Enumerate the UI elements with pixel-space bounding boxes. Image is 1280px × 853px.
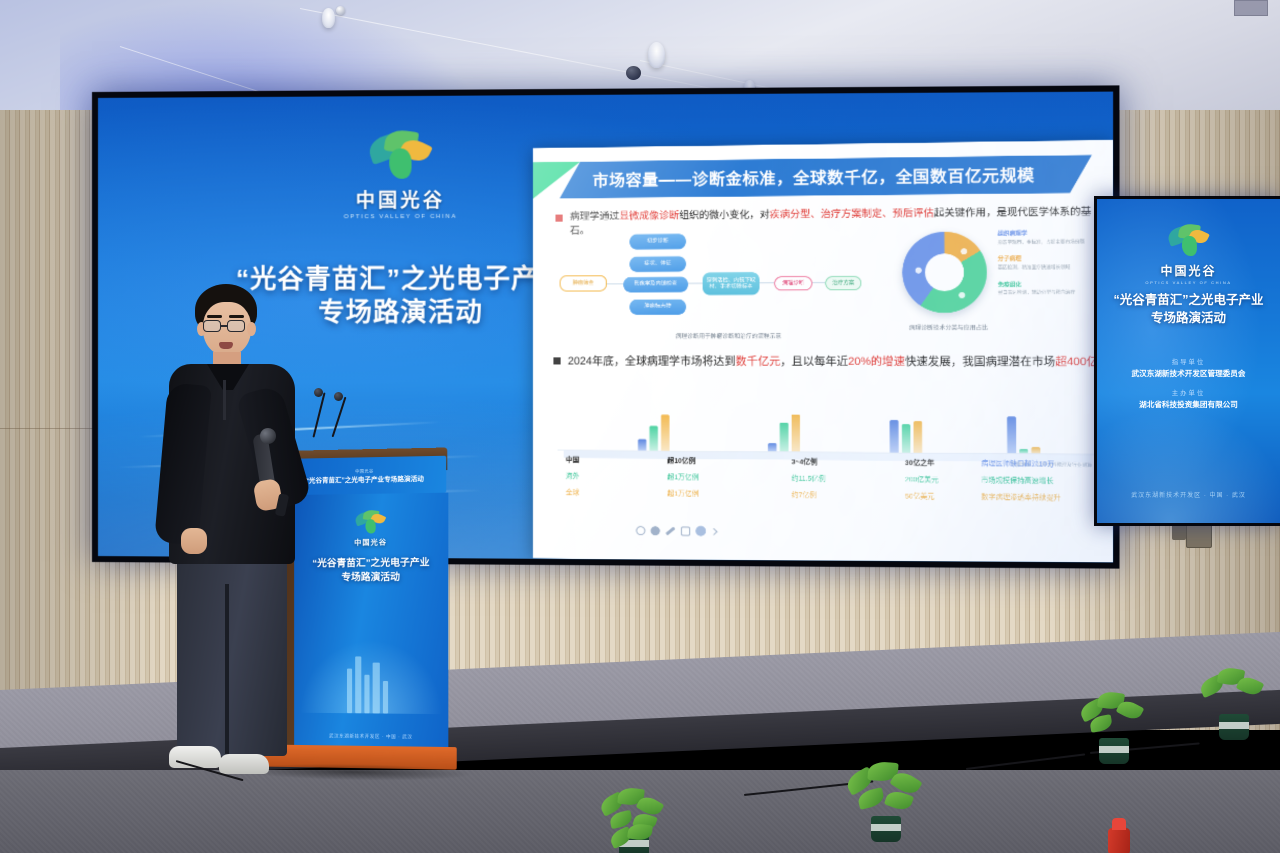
logo-text-en: OPTICS VALLEY OF CHINA xyxy=(233,214,568,221)
bullet-2-text: 2024年底，全球病理学市场将达到数千亿元，且以每年近20%的增速快速发展，我国… xyxy=(568,354,1115,370)
circle-filled-icon[interactable] xyxy=(651,526,660,535)
right-logo-text-en: OPTICS VALLEY OF CHINA xyxy=(1145,280,1231,285)
mouth xyxy=(219,342,233,349)
donut-ring xyxy=(902,231,987,313)
donut-marker xyxy=(915,267,922,273)
slide-title-band: 市场容量——诊断金标准，全球数千亿，全国数百亿元规模 xyxy=(560,155,1092,198)
microphone-head xyxy=(314,388,323,397)
optics-valley-logo-icon xyxy=(353,508,388,535)
row-2-cell-3: 数字病理渗透率持续提升 xyxy=(981,491,1061,502)
b2-prefix: 2024年底，全球病理学市场将达到 xyxy=(568,355,736,367)
bar-china-2 xyxy=(890,420,899,452)
right-title-line1: “光谷青苗汇”之光电子产业 xyxy=(1097,291,1280,309)
row-1-cell-2: 200亿美元 xyxy=(905,473,938,484)
bar-global-2 xyxy=(914,421,923,452)
legend-label-1: 分子病理 xyxy=(998,254,1095,263)
extinguisher-body xyxy=(1108,828,1130,853)
row-1-cell-3: 市场规模保持高速增长 xyxy=(981,474,1053,485)
legend-item-0: 组织病理学 形态学观察，金标准，占据主要市场份额 xyxy=(998,228,1095,245)
microphone-head xyxy=(334,392,343,401)
bar-china-3 xyxy=(1007,417,1016,454)
bar-global-0 xyxy=(661,415,669,451)
right-logo-text-cn: 中国光谷 xyxy=(1145,262,1231,279)
bar-group-2 xyxy=(890,390,923,453)
b1-hl1: 显微成像诊断 xyxy=(619,210,679,222)
flow-node-4: 肿瘤标志物 xyxy=(630,299,686,314)
skyline-bar xyxy=(347,669,352,714)
shoe-right xyxy=(219,754,269,774)
b1-mid1: 组织的微小变化，对 xyxy=(679,210,770,222)
bar-group-3 xyxy=(1007,390,1040,453)
pot-label xyxy=(1219,722,1249,729)
ear-right xyxy=(247,322,256,336)
chevron-right-icon[interactable] xyxy=(710,528,717,535)
row-2-cell-1: 约7亿例 xyxy=(792,489,817,500)
bar-china-1 xyxy=(768,443,776,451)
glasses-lens-right xyxy=(227,320,245,332)
trousers xyxy=(177,556,287,756)
b1-hl2: 疾病分型、治疗方案制定、预后评估 xyxy=(770,208,934,221)
legend-label-2: 免疫组化 xyxy=(998,280,1095,289)
potted-plant xyxy=(1192,666,1276,740)
leg-divider xyxy=(225,584,229,754)
hand-left xyxy=(181,528,207,554)
row-2-cell-2: 50亿美元 xyxy=(905,490,934,501)
row-label-2: 全球 xyxy=(566,486,580,496)
skyline-bar xyxy=(364,675,369,714)
flow-node-8: 治疗方案 xyxy=(825,276,861,291)
flow-connector xyxy=(810,282,825,283)
podium-title-line1: “光谷青苗汇”之光电子产业 xyxy=(294,556,448,572)
flow-node-3: 影像学及内镜检查 xyxy=(623,277,687,293)
slide-data-table: 中国 超10亿例 3~4亿例 30亿之年 病理医师缺口超过10万 海外 超1万亿… xyxy=(557,454,1096,509)
podium-title-line2: 专场路演活动 xyxy=(294,571,448,586)
legend-desc-1: 基因检测，精准医疗快速增长领域 xyxy=(998,264,1095,271)
circle-icon[interactable] xyxy=(636,525,645,534)
optics-valley-logo-icon xyxy=(1165,221,1213,259)
skyline-bar xyxy=(355,656,361,713)
bar-china-0 xyxy=(638,439,646,450)
pot-label xyxy=(1099,746,1129,753)
right-panel-footer: 武汉东湖新技术开发区 · 中国 · 武汉 xyxy=(1097,490,1280,499)
optics-valley-logo-icon xyxy=(363,126,438,183)
b2-mid2: 快速发展，我国病理潜在市场 xyxy=(905,356,1055,369)
flow-connector xyxy=(686,283,703,284)
plant-pot xyxy=(1219,714,1249,740)
donut-marker xyxy=(961,248,968,254)
row-label-1: 海外 xyxy=(566,470,580,480)
floor-cable xyxy=(966,753,1085,770)
glasses-lens-left xyxy=(203,320,221,332)
potted-plant xyxy=(604,824,674,853)
b1-prefix: 病理学通过 xyxy=(570,211,619,223)
guide-value: 武汉东湖新技术开发区管理委员会 xyxy=(1097,368,1280,379)
right-panel-logo: 中国光谷 OPTICS VALLEY OF CHINA xyxy=(1145,221,1231,285)
podium-logo-text: 中国光谷 xyxy=(353,537,388,548)
row-0-cell-0: 超10亿例 xyxy=(667,455,695,465)
eyebrow-right xyxy=(229,315,244,318)
pot-label xyxy=(871,824,901,831)
right-title-line2: 专场路演活动 xyxy=(1097,309,1280,327)
row-0-cell-1: 3~4亿例 xyxy=(791,456,817,467)
donut-marker xyxy=(959,292,966,298)
row-0-cell-3: 病理医师缺口超过10万 xyxy=(981,457,1054,468)
presentation-slide: 市场容量——诊断金标准，全球数千亿，全国数百亿元规模 病理学通过显微成像诊断组织… xyxy=(533,140,1115,567)
row-0-cell-2: 30亿之年 xyxy=(905,457,934,468)
flow-connector xyxy=(757,282,774,283)
podium-footer: 武汉东湖新技术开发区 · 中国 · 武汉 xyxy=(294,733,448,741)
donut-caption: 病理诊断技术分类与应用占比 xyxy=(909,323,988,331)
flow-node-2: 症状、体征 xyxy=(630,256,686,272)
fire-extinguisher xyxy=(1108,818,1130,853)
legend-desc-2: 蛋白表达检测，辅助分型与靶向治疗 xyxy=(998,290,1095,297)
row-1-cell-0: 超1万亿例 xyxy=(667,471,698,482)
row-1-cell-1: 约11.5亿例 xyxy=(791,472,825,483)
legend-label-0: 组织病理学 xyxy=(998,228,1095,237)
potted-plant xyxy=(1072,690,1156,764)
sprinkler-icon xyxy=(336,6,345,15)
ppt-toolbar[interactable] xyxy=(636,522,730,540)
bar-overseas-0 xyxy=(649,426,657,451)
extinguisher-valve xyxy=(1112,818,1126,830)
flow-node-5: 穿刺活检、内镜下取材、手术切除标本 xyxy=(703,272,760,295)
skyline-bar xyxy=(383,681,388,714)
frame-icon[interactable] xyxy=(681,526,690,535)
right-panel-organizers: 指导单位 武汉东湖新技术开发区管理委员会 主办单位 湖北省科技投资集团有限公司 xyxy=(1097,357,1280,419)
slide-title-text: 市场容量——诊断金标准，全球数千亿，全国数百亿元规模 xyxy=(592,163,1034,191)
row-2-cell-0: 超1万亿例 xyxy=(667,487,698,498)
skyline-bar xyxy=(373,663,380,714)
vent-icon xyxy=(1234,0,1268,16)
speaker-dome-icon xyxy=(626,66,641,80)
slide-bullet-2: 2024年底，全球病理学市场将达到数千亿元，且以每年近20%的增速快速发展，我国… xyxy=(553,354,1102,370)
legend-desc-0: 形态学观察，金标准，占据主要市场份额 xyxy=(998,238,1095,245)
donut-legend: 组织病理学 形态学观察，金标准，占据主要市场份额 分子病理 基因检测，精准医疗快… xyxy=(998,228,1095,305)
podium-banner-text: “光谷青苗汇”之光电子产业专场路演活动 xyxy=(306,473,424,484)
bar-overseas-1 xyxy=(780,423,789,452)
legend-item-2: 免疫组化 蛋白表达检测，辅助分型与靶向治疗 xyxy=(998,280,1095,297)
host-value: 湖北省科技投资集团有限公司 xyxy=(1097,399,1280,410)
row-label-0: 中国 xyxy=(566,454,580,464)
host-label: 主办单位 xyxy=(1097,388,1280,397)
shirt-placket xyxy=(223,380,226,420)
flow-caption: 病理诊断用于肿瘤诊断和治疗的流程示意 xyxy=(675,332,781,340)
flow-node-0: 肿瘤筛查 xyxy=(560,275,607,291)
slide-flow-diagram: 肿瘤筛查 初步诊断 症状、体征 影像学及内镜检查 肿瘤标志物 穿刺活检、内镜下取… xyxy=(551,232,887,341)
bar-overseas-2 xyxy=(902,424,911,452)
potted-plant xyxy=(838,758,934,842)
speaker-person xyxy=(163,284,313,794)
logo-text-cn: 中国光谷 xyxy=(233,185,568,213)
downlight-icon xyxy=(322,8,335,28)
right-led-panel: 中国光谷 OPTICS VALLEY OF CHINA “光谷青苗汇”之光电子产… xyxy=(1094,196,1280,526)
flow-node-6: 病理诊断 xyxy=(774,276,812,291)
leaf xyxy=(627,822,653,841)
conference-hall-photo: 中国光谷 OPTICS VALLEY OF CHINA “光谷青苗汇”之光电子产… xyxy=(0,0,1280,853)
downlight-icon xyxy=(648,42,665,68)
podium-title: “光谷青苗汇”之光电子产业 专场路演活动 xyxy=(294,556,448,586)
eyebrow-left xyxy=(207,315,222,318)
guide-label: 指导单位 xyxy=(1097,357,1280,366)
bullet-square-icon-2 xyxy=(553,357,560,364)
bar-global-1 xyxy=(791,414,800,451)
podium-logo: 中国光谷 xyxy=(353,508,388,548)
pen-icon[interactable] xyxy=(665,526,675,535)
b2-hl2: 20%的增速 xyxy=(848,356,905,369)
bullet-square-icon xyxy=(556,215,563,222)
right-panel-title: “光谷青苗汇”之光电子产业 专场路演活动 xyxy=(1097,291,1280,327)
plant-pot xyxy=(1099,738,1129,764)
plant-pot xyxy=(871,816,901,842)
legend-item-1: 分子病理 基因检测，精准医疗快速增长领域 xyxy=(998,254,1095,271)
b2-mid1: ，且以每年近 xyxy=(780,356,848,368)
bar-group-0 xyxy=(638,389,669,451)
flow-node-1: 初步诊断 xyxy=(630,234,686,250)
podium-front-panel: 中国光谷 “光谷青苗汇”之光电子产业 专场路演活动 武汉东湖新技术开发区 · 中… xyxy=(294,493,448,749)
globe-icon[interactable] xyxy=(696,526,707,536)
glasses-bridge xyxy=(221,325,228,327)
slide-title-bar: 市场容量——诊断金标准，全球数千亿，全国数百亿元规模 xyxy=(533,155,1113,199)
b2-hl1: 数千亿元 xyxy=(736,356,781,368)
bar-group-1 xyxy=(768,390,800,452)
podium-skyline-graphic xyxy=(294,634,448,714)
slide-donut-chart: 组织病理学 形态学观察，金标准，占据主要市场份额 分子病理 基因检测，精准医疗快… xyxy=(889,226,1097,340)
